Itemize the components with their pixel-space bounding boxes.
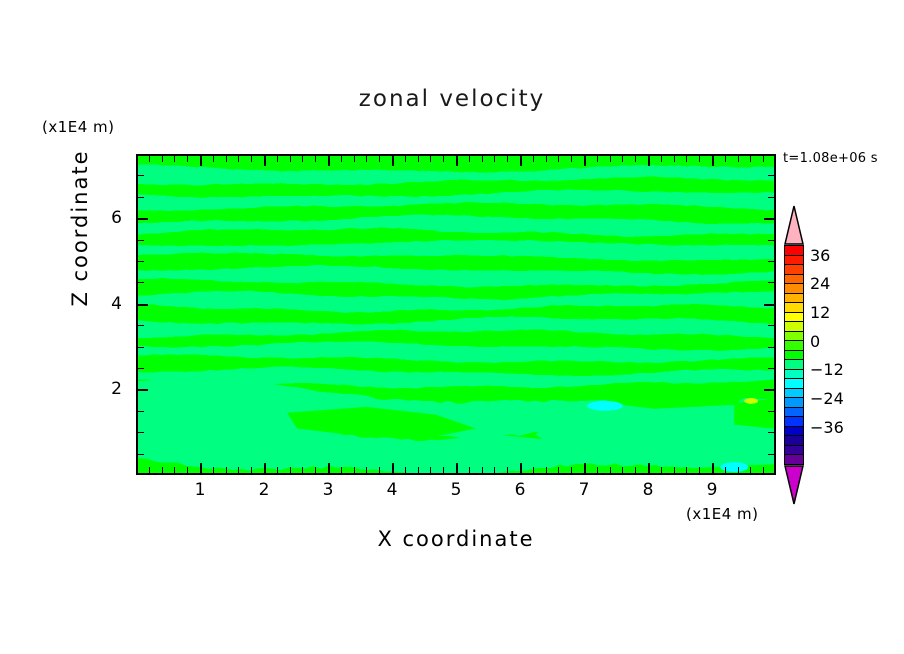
colorbar-band (785, 284, 803, 294)
x-tick (418, 156, 419, 162)
x-tick (354, 467, 355, 473)
colorbar-band (785, 246, 803, 256)
x-tick (738, 467, 739, 473)
colorbar-band (785, 389, 803, 399)
x-tick (686, 156, 687, 162)
y-tick (138, 347, 144, 348)
colorbar-band (785, 408, 803, 418)
x-tick (648, 156, 650, 166)
x-tick (533, 156, 534, 162)
colorbar-band (785, 303, 803, 313)
colorbar-tick-label: 36 (810, 246, 830, 265)
x-tick (238, 156, 239, 162)
colorbar-band (785, 455, 803, 464)
x-tick (712, 156, 714, 166)
x-tick (507, 467, 508, 473)
x-tick (635, 467, 636, 473)
contour-field (138, 156, 774, 473)
x-tick (238, 467, 239, 473)
colorbar-tick-label: 12 (810, 303, 830, 322)
x-tick (379, 467, 380, 473)
x-tick (264, 463, 266, 473)
y-tick (764, 389, 774, 391)
colorbar-band (785, 332, 803, 342)
y-tick (768, 347, 774, 348)
x-tick (443, 156, 444, 162)
colorbar-band (785, 341, 803, 351)
colorbar-band (785, 436, 803, 446)
x-tick (738, 156, 739, 162)
x-tick (200, 156, 202, 166)
x-tick (290, 467, 291, 473)
x-tick (469, 156, 470, 162)
colorbar-bottom-arrow-icon (784, 465, 804, 505)
x-tick-label: 2 (249, 480, 279, 500)
x-tick (520, 156, 522, 166)
x-tick (162, 156, 163, 162)
x-tick-label: 3 (313, 480, 343, 500)
y-tick (138, 325, 144, 326)
y-tick (138, 197, 144, 198)
plot-area (136, 154, 776, 475)
x-axis-unit-label: (x1E4 m) (686, 505, 759, 523)
colorbar-band (785, 322, 803, 332)
time-annotation: t=1.08e+06 s (783, 151, 878, 166)
x-tick (277, 467, 278, 473)
x-tick (251, 156, 252, 162)
y-tick-label: 2 (98, 379, 122, 399)
colorbar-top-arrow-icon (784, 205, 804, 245)
y-tick (768, 175, 774, 176)
x-tick (443, 467, 444, 473)
x-tick (507, 156, 508, 162)
x-tick (341, 467, 342, 473)
x-tick (328, 463, 330, 473)
x-tick (366, 156, 367, 162)
x-tick (571, 156, 572, 162)
page-title: zonal velocity (0, 86, 904, 112)
y-tick (138, 175, 144, 176)
x-tick (622, 156, 623, 162)
x-tick (430, 156, 431, 162)
x-tick (558, 156, 559, 162)
colorbar-band (785, 351, 803, 361)
x-tick (264, 156, 266, 166)
x-tick (302, 467, 303, 473)
x-tick (699, 156, 700, 162)
colorbar-band (785, 427, 803, 437)
y-tick (768, 240, 774, 241)
x-tick-label: 1 (185, 480, 215, 500)
x-tick (200, 463, 202, 473)
colorbar-band (785, 256, 803, 266)
x-tick (520, 463, 522, 473)
x-tick (174, 156, 175, 162)
colorbar-band (785, 417, 803, 427)
x-tick (226, 467, 227, 473)
contour-figure: zonal velocity (x1E4 m) (x1E4 m) t=1.08e… (0, 0, 904, 654)
x-tick-label: 6 (505, 480, 535, 500)
x-tick (699, 467, 700, 473)
x-tick (494, 156, 495, 162)
x-tick (226, 156, 227, 162)
x-tick (725, 156, 726, 162)
colorbar-tick-label: −36 (810, 418, 844, 437)
x-tick (379, 156, 380, 162)
x-tick (686, 467, 687, 473)
y-tick (138, 304, 148, 306)
x-tick (597, 156, 598, 162)
x-tick (456, 463, 458, 473)
x-tick (635, 156, 636, 162)
y-tick-label: 4 (98, 294, 122, 314)
y-tick (768, 411, 774, 412)
x-tick-label: 7 (569, 480, 599, 500)
y-tick (768, 432, 774, 433)
x-tick (661, 156, 662, 162)
x-tick (174, 467, 175, 473)
x-tick (277, 156, 278, 162)
y-axis-title: Z coordinate (68, 128, 92, 328)
x-tick (674, 467, 675, 473)
y-tick (768, 197, 774, 198)
x-tick (584, 156, 586, 166)
y-tick (138, 411, 144, 412)
x-tick (456, 156, 458, 166)
x-tick (149, 156, 150, 162)
y-tick (768, 261, 774, 262)
y-tick (768, 325, 774, 326)
colorbar-bands (784, 245, 804, 465)
x-tick (328, 156, 330, 166)
x-tick (674, 156, 675, 162)
colorbar-tick-label: 0 (810, 332, 820, 351)
colorbar-band (785, 275, 803, 285)
x-tick (251, 467, 252, 473)
colorbar-band (785, 370, 803, 380)
x-tick (610, 156, 611, 162)
y-tick (138, 389, 148, 391)
x-tick (430, 467, 431, 473)
x-tick (405, 467, 406, 473)
x-tick (213, 467, 214, 473)
y-tick (768, 368, 774, 369)
x-tick (341, 156, 342, 162)
x-tick (302, 156, 303, 162)
x-tick-label: 8 (633, 480, 663, 500)
x-tick-label: 4 (377, 480, 407, 500)
y-tick (138, 368, 144, 369)
x-tick (162, 467, 163, 473)
x-tick (725, 467, 726, 473)
x-tick (546, 467, 547, 473)
x-tick (763, 156, 764, 162)
x-tick (571, 467, 572, 473)
y-tick (768, 454, 774, 455)
colorbar-tick-label: −12 (810, 360, 844, 379)
x-tick (712, 463, 714, 473)
y-tick (138, 218, 148, 220)
x-tick (149, 467, 150, 473)
x-tick (482, 156, 483, 162)
colorbar-band (785, 379, 803, 389)
colorbar-band (785, 398, 803, 408)
x-tick (187, 156, 188, 162)
x-tick (418, 467, 419, 473)
colorbar: 3624120−12−24−36 (784, 205, 804, 505)
x-tick (610, 467, 611, 473)
x-tick (494, 467, 495, 473)
x-tick (405, 156, 406, 162)
x-tick (482, 467, 483, 473)
x-tick (750, 467, 751, 473)
x-tick (648, 463, 650, 473)
y-tick (138, 261, 144, 262)
x-tick-label: 9 (697, 480, 727, 500)
x-tick (392, 156, 394, 166)
x-tick (533, 467, 534, 473)
colorbar-band (785, 360, 803, 370)
y-tick (138, 432, 144, 433)
x-tick (750, 156, 751, 162)
x-tick (558, 467, 559, 473)
x-tick (315, 156, 316, 162)
x-tick (597, 467, 598, 473)
colorbar-band (785, 265, 803, 275)
colorbar-tick-label: 24 (810, 274, 830, 293)
y-tick-label: 6 (98, 208, 122, 228)
x-tick-label: 5 (441, 480, 471, 500)
x-tick (661, 467, 662, 473)
x-tick (584, 463, 586, 473)
x-axis-title: X coordinate (136, 527, 776, 551)
y-tick (764, 218, 774, 220)
x-tick (290, 156, 291, 162)
colorbar-band (785, 313, 803, 323)
x-tick (546, 156, 547, 162)
x-tick (366, 467, 367, 473)
y-tick (138, 454, 144, 455)
x-tick (622, 467, 623, 473)
x-tick (392, 463, 394, 473)
x-tick (315, 467, 316, 473)
y-tick (768, 282, 774, 283)
colorbar-band (785, 446, 803, 456)
x-tick (469, 467, 470, 473)
x-tick (187, 467, 188, 473)
y-tick (138, 282, 144, 283)
y-tick (138, 240, 144, 241)
y-tick (764, 304, 774, 306)
x-tick (763, 467, 764, 473)
colorbar-band (785, 294, 803, 304)
x-tick (354, 156, 355, 162)
colorbar-tick-label: −24 (810, 389, 844, 408)
x-tick (213, 156, 214, 162)
